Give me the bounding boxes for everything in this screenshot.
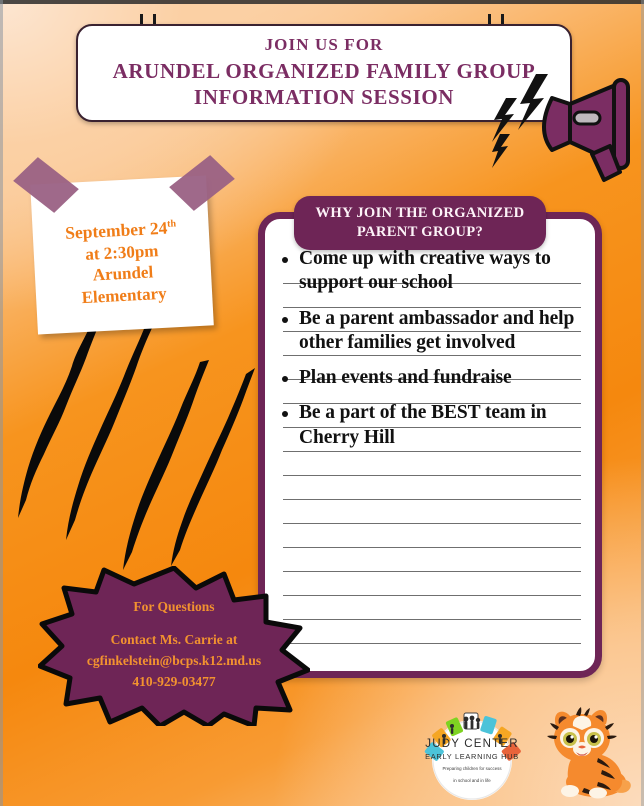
left-edge-strip xyxy=(0,0,3,806)
sticky-note-place-2: Elementary xyxy=(81,283,167,309)
sticky-note-place-1: Arundel xyxy=(92,262,154,287)
sticky-note-date-suffix: th xyxy=(167,218,176,229)
list-item: Come up with creative ways to support ou… xyxy=(299,247,577,296)
flyer-canvas: JOIN US FOR ARUNDEL ORGANIZED FAMILY GRO… xyxy=(0,0,644,806)
header-line-1: JOIN US FOR xyxy=(265,36,384,55)
top-edge-strip xyxy=(0,0,644,4)
list-item: Plan events and fundraise xyxy=(299,366,577,390)
megaphone-icon xyxy=(492,68,642,188)
header-line-3: INFORMATION SESSION xyxy=(194,85,454,111)
benefits-list: Come up with creative ways to support ou… xyxy=(273,247,581,450)
list-item: Be a parent ambassador and help other fa… xyxy=(299,307,577,356)
starburst-icon xyxy=(38,566,310,726)
why-join-line-2: PARENT GROUP? xyxy=(304,223,536,242)
sticky-note-date: September 24th xyxy=(65,216,177,244)
tiger-cub-icon xyxy=(540,696,636,800)
list-item: Be a part of the BEST team in Cherry Hil… xyxy=(299,401,577,450)
header-line-2: ARUNDEL ORGANIZED FAMILY GROUP xyxy=(113,59,536,85)
why-join-line-1: WHY JOIN THE ORGANIZED xyxy=(304,204,536,223)
judy-center-logo xyxy=(408,706,536,802)
why-join-banner: WHY JOIN THE ORGANIZED PARENT GROUP? xyxy=(294,196,546,250)
lightning-bolt-icon xyxy=(492,74,548,168)
claw-marks-icon xyxy=(18,322,278,572)
